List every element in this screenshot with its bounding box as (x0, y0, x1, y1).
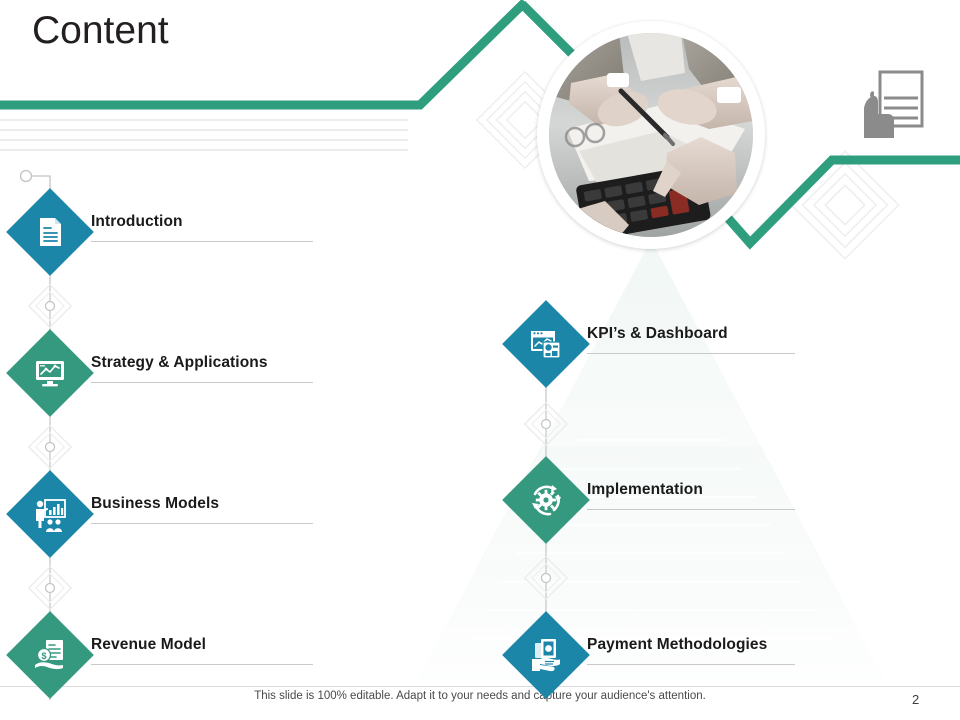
agenda-item-label: Strategy & Applications (91, 354, 268, 372)
agenda-item-introduction[interactable]: Introduction (19, 201, 339, 263)
agenda-item-revenue-model[interactable]: $ Revenue Model (19, 624, 339, 686)
monitor-chart-icon (32, 355, 68, 391)
agenda-item-payment-methodologies[interactable]: Payment Methodologies (515, 624, 835, 686)
agenda-item-label: KPI’s & Dashboard (587, 325, 728, 343)
slide-canvas: Content (0, 0, 960, 720)
dashboard-icon (528, 326, 564, 362)
agenda-item-label: Business Models (91, 495, 219, 513)
agenda-item-implementation[interactable]: Implementation (515, 469, 835, 531)
agenda-item-underline (91, 382, 313, 383)
agenda-item-underline (91, 523, 313, 524)
svg-text:$: $ (41, 651, 46, 661)
document-icon (32, 214, 68, 250)
agenda-item-label: Payment Methodologies (587, 636, 767, 654)
agenda-item-underline (587, 353, 795, 354)
hand-money-document-icon: $ (32, 637, 68, 673)
agenda-item-strategy-applications[interactable]: Strategy & Applications (19, 342, 339, 404)
agenda-item-label: Introduction (91, 213, 183, 231)
agenda-item-label: Revenue Model (91, 636, 206, 654)
gear-cycle-icon (528, 482, 564, 518)
agenda-item-business-models[interactable]: Business Models (19, 483, 339, 545)
agenda-item-underline (587, 509, 795, 510)
hand-cash-icon (528, 637, 564, 673)
presenter-audience-icon (32, 496, 68, 532)
agenda-item-underline (91, 241, 313, 242)
agenda-item-underline (91, 664, 313, 665)
agenda-item-kpis-dashboard[interactable]: KPI’s & Dashboard (515, 313, 835, 375)
agenda-item-label: Implementation (587, 481, 703, 499)
agenda-item-underline (587, 664, 795, 665)
